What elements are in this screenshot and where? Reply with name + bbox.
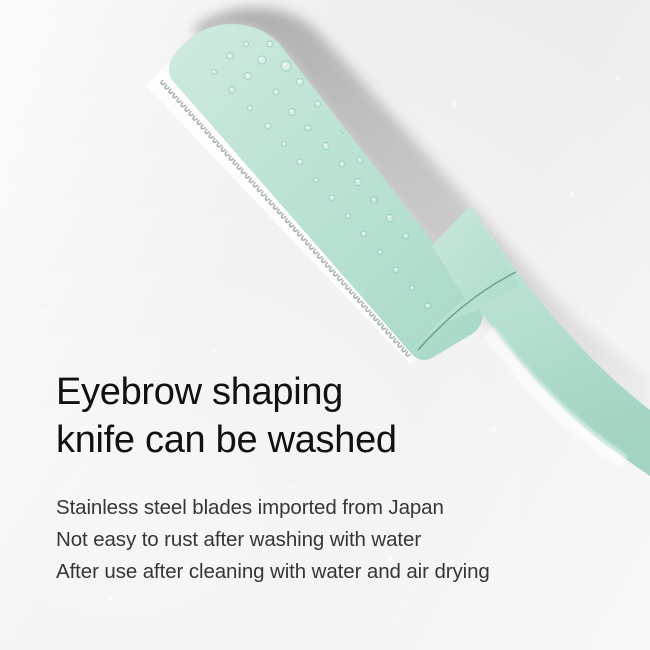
product-banner: Eyebrow shaping knife can be washed Stai…: [0, 0, 650, 650]
list-item: After use after cleaning with water and …: [56, 556, 616, 588]
list-item: Not easy to rust after washing with wate…: [56, 524, 616, 556]
marketing-copy: Eyebrow shaping knife can be washed Stai…: [56, 368, 616, 588]
list-item: Stainless steel blades imported from Jap…: [56, 492, 616, 524]
page-title: Eyebrow shaping knife can be washed: [56, 368, 616, 464]
feature-list: Stainless steel blades imported from Jap…: [56, 492, 616, 588]
